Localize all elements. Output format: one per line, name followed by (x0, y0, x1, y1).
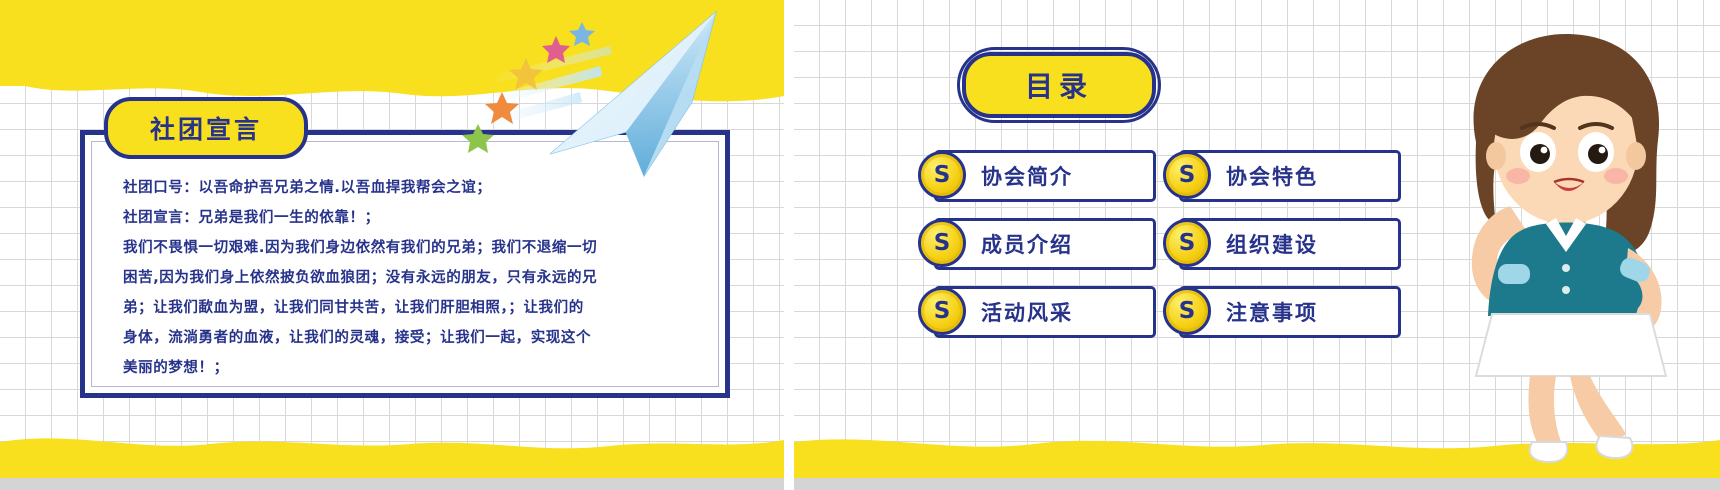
coin-symbol: S (1179, 164, 1196, 187)
toc-item-label: 协会简介 (981, 161, 1073, 191)
slide-title-text: 社团宣言 (150, 110, 262, 146)
toc-item-label: 成员介绍 (981, 229, 1073, 259)
coin-symbol: S (1179, 300, 1196, 323)
declaration-line: 美丽的梦想！； (123, 353, 695, 383)
coin-s-icon: S (1163, 287, 1211, 335)
coin-s-icon: S (1163, 151, 1211, 199)
coin-symbol: S (934, 164, 951, 187)
declaration-line: 弟；让我们歃血为盟，让我们同甘共苦，让我们肝胆相照，；让我们的 (123, 293, 695, 323)
paper-plane-illustration (430, 6, 760, 186)
declaration-line: 我们不畏惧一切艰难.因为我们身边依然有我们的兄弟；我们不退缩一切 (123, 233, 695, 263)
toc-item-label: 注意事项 (1226, 297, 1318, 327)
declaration-text-body: 社团口号：以吾命护吾兄弟之情.以吾血捍我帮会之谊； 社团宣言：兄弟是我们一生的依… (123, 173, 695, 383)
toc-item-member-intro[interactable]: S 成员介绍 (934, 218, 1156, 270)
toc-title-outer-border (957, 47, 1161, 123)
toc-title-badge: 目录 (962, 52, 1156, 118)
declaration-line: 身体，流淌勇者的血液，让我们的灵魂，接受；让我们一起，实现这个 (123, 323, 695, 353)
coin-s-icon: S (918, 219, 966, 267)
declaration-line: 社团宣言：兄弟是我们一生的依靠！； (123, 203, 695, 233)
coin-s-icon: S (1163, 219, 1211, 267)
bottom-gray-strip (0, 478, 784, 490)
slide-title-badge: 社团宣言 (104, 97, 308, 159)
toc-menu-grid: S 协会简介 S 协会特色 S 成员介绍 S 组织建设 (934, 150, 1414, 354)
bottom-gray-strip (794, 478, 1720, 490)
wave-divider-bottom (0, 430, 784, 456)
coin-s-icon: S (918, 287, 966, 335)
slide-deck-canvas: 社团口号：以吾命护吾兄弟之情.以吾血捍我帮会之谊； 社团宣言：兄弟是我们一生的依… (0, 0, 1720, 490)
toc-item-organization-building[interactable]: S 组织建设 (1179, 218, 1401, 270)
coin-symbol: S (934, 232, 951, 255)
slide-table-of-contents: 目录 S 协会简介 S 协会特色 S 成员介绍 (794, 0, 1720, 490)
toc-item-association-features[interactable]: S 协会特色 (1179, 150, 1401, 202)
coin-symbol: S (1179, 232, 1196, 255)
cartoon-girl-illustration (1414, 24, 1714, 464)
toc-item-label: 协会特色 (1226, 161, 1318, 191)
slide-club-declaration: 社团口号：以吾命护吾兄弟之情.以吾血捍我帮会之谊； 社团宣言：兄弟是我们一生的依… (0, 0, 784, 490)
coin-s-icon: S (918, 151, 966, 199)
declaration-line: 困苦,因为我们身上依然披负欲血狼团；没有永远的朋友，只有永远的兄 (123, 263, 695, 293)
toc-item-label: 组织建设 (1226, 229, 1318, 259)
coin-symbol: S (934, 300, 951, 323)
toc-item-label: 活动风采 (981, 297, 1073, 327)
toc-item-activity-showcase[interactable]: S 活动风采 (934, 286, 1156, 338)
slide-gutter (784, 0, 794, 490)
toc-item-association-intro[interactable]: S 协会简介 (934, 150, 1156, 202)
toc-item-notices[interactable]: S 注意事项 (1179, 286, 1401, 338)
